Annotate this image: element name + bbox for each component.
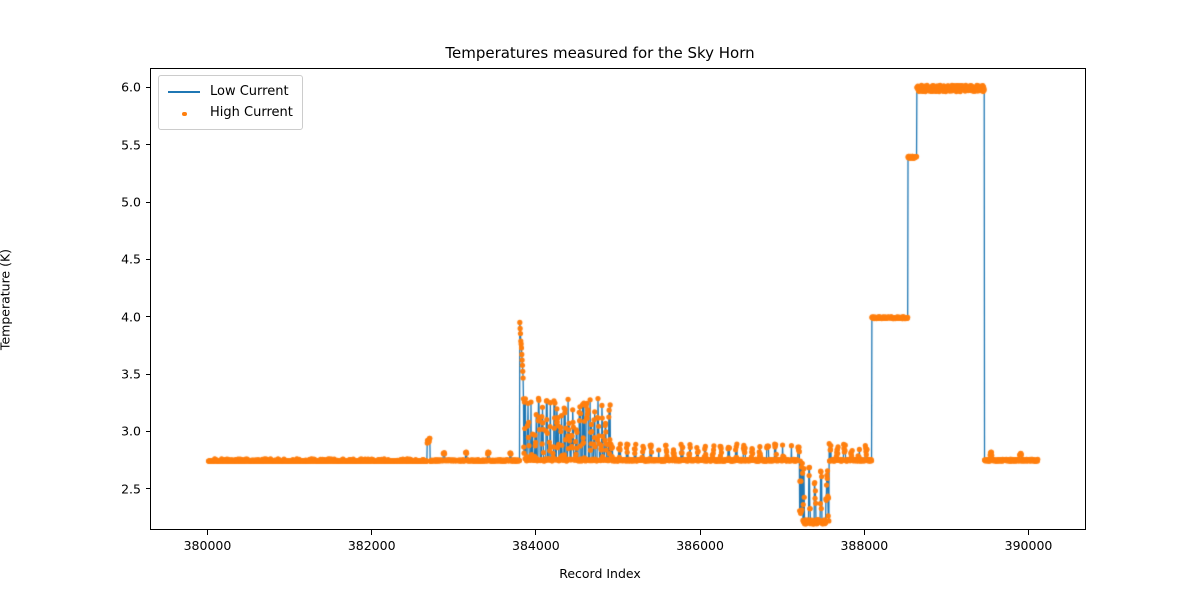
x-axis-label: Record Index: [0, 566, 1200, 581]
y-tick-label: 3.0: [121, 424, 141, 439]
legend-line-swatch-icon: [167, 84, 201, 100]
y-tick-mark: [146, 202, 151, 203]
x-tick-mark: [700, 530, 701, 535]
y-tick-mark: [146, 87, 151, 88]
chart-title: Temperatures measured for the Sky Horn: [0, 44, 1200, 62]
legend-marker-swatch-icon: [167, 105, 201, 121]
y-tick-mark: [146, 431, 151, 432]
x-tick-mark: [535, 530, 536, 535]
legend-item-high-current: High Current: [167, 102, 293, 123]
legend-item-low-current: Low Current: [167, 81, 293, 102]
y-tick-mark: [146, 316, 151, 317]
y-tick-mark: [146, 374, 151, 375]
plot-canvas: [151, 69, 1087, 531]
y-tick-mark: [146, 259, 151, 260]
x-tick-label: 388000: [840, 538, 888, 553]
x-tick-label: 382000: [348, 538, 396, 553]
matplotlib-figure: Temperatures measured for the Sky Horn 2…: [0, 0, 1200, 600]
y-tick-label: 3.5: [121, 367, 141, 382]
x-tick-label: 386000: [676, 538, 724, 553]
x-tick-mark: [864, 530, 865, 535]
y-tick-label: 2.5: [121, 481, 141, 496]
x-tick-mark: [371, 530, 372, 535]
legend-label-high-current: High Current: [210, 105, 293, 120]
y-tick-label: 6.0: [121, 80, 141, 95]
legend-label-low-current: Low Current: [210, 84, 289, 99]
y-tick-mark: [146, 144, 151, 145]
x-tick-label: 380000: [184, 538, 232, 553]
x-tick-mark: [207, 530, 208, 535]
x-tick-label: 390000: [1005, 538, 1053, 553]
y-tick-label: 4.5: [121, 252, 141, 267]
y-tick-label: 5.5: [121, 137, 141, 152]
x-tick-label: 384000: [512, 538, 560, 553]
plot-axes: [150, 68, 1086, 530]
y-tick-label: 5.0: [121, 195, 141, 210]
y-tick-mark: [146, 488, 151, 489]
y-axis-label: Temperature (K): [0, 100, 13, 500]
x-tick-mark: [1028, 530, 1029, 535]
chart-legend: Low Current High Current: [158, 75, 303, 130]
y-tick-label: 4.0: [121, 309, 141, 324]
